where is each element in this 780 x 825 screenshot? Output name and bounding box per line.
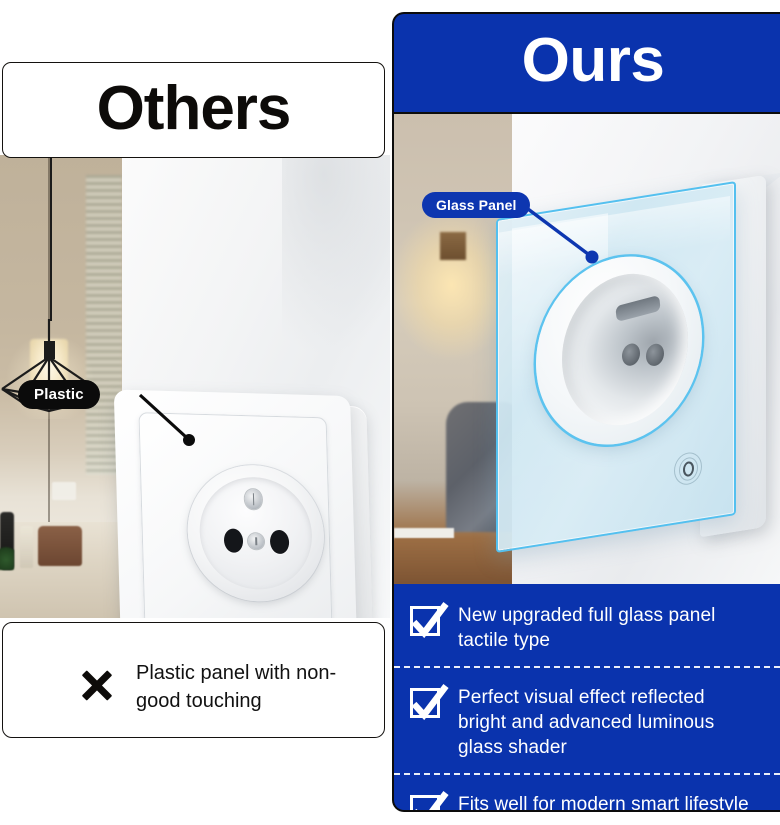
ours-title: Ours	[522, 30, 665, 92]
socket-outer-recess	[186, 463, 326, 603]
wall-sconce	[440, 232, 466, 260]
ours-feature-list: New upgraded full glass panel tactile ty…	[394, 586, 780, 810]
wicker-basket	[38, 526, 82, 566]
others-title: Others	[97, 78, 291, 140]
socket-hole-right	[270, 530, 290, 555]
power-indicator-icon[interactable]	[674, 450, 702, 486]
ours-product-photo: Glass Panel	[394, 114, 780, 584]
others-caption-box: Plastic panel with non-good touching	[2, 622, 385, 738]
others-column: Others	[0, 0, 390, 825]
socket-hole-left	[622, 342, 640, 367]
feature-item: Fits well for modern smart lifestyle	[394, 773, 780, 812]
potted-plant	[0, 544, 14, 570]
checkbox-check-icon	[408, 789, 448, 812]
wall-shading	[282, 155, 390, 355]
socket-hole-left	[224, 528, 244, 553]
socket-hole-right	[646, 342, 664, 367]
drinking-glass	[20, 526, 33, 568]
feature-item: Perfect visual effect reflected bright a…	[394, 666, 780, 773]
others-product-photo: Plastic	[0, 155, 390, 618]
background-wall-socket	[52, 482, 76, 500]
plastic-callout-label: Plastic	[34, 386, 84, 403]
socket-ground-bar	[615, 295, 660, 322]
feature-text: Perfect visual effect reflected bright a…	[458, 681, 714, 760]
others-header-box: Others	[2, 62, 385, 158]
others-caption-text: Plastic panel with non-good touching	[136, 659, 368, 715]
plastic-callout-pill: Plastic	[18, 380, 100, 409]
ours-column: Ours	[392, 12, 780, 812]
glass-panel-callout-pill: Glass Panel	[422, 192, 530, 218]
feature-text: New upgraded full glass panel tactile ty…	[458, 599, 715, 653]
feature-item: New upgraded full glass panel tactile ty…	[394, 586, 780, 666]
socket-center-screw	[248, 533, 264, 549]
comparison-graphic: Others	[0, 0, 780, 825]
checkbox-check-icon	[408, 682, 448, 722]
socket-ground-pin	[245, 489, 263, 509]
pendant-lamp-cord	[50, 155, 52, 321]
x-mark-icon	[79, 667, 113, 701]
glass-panel-callout-label: Glass Panel	[436, 197, 516, 213]
socket-recess-cup	[562, 265, 688, 435]
feature-text: Fits well for modern smart lifestyle	[458, 788, 749, 812]
socket-inner-recess	[198, 476, 313, 591]
checkbox-check-icon	[408, 600, 448, 640]
plastic-callout-leader-line	[138, 393, 200, 449]
ours-header-bar: Ours	[394, 14, 780, 114]
